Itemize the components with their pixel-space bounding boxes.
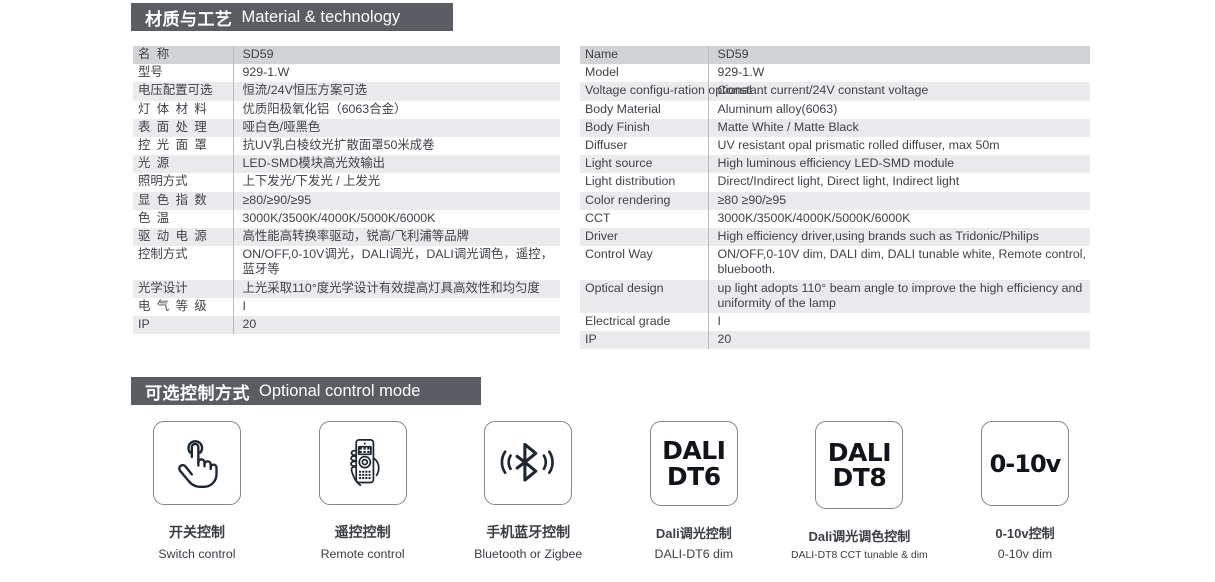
table-row: DiffuserUV resistant opal prismatic roll…	[580, 137, 1090, 155]
spec-value: up light adopts 110° beam angle to impro…	[708, 280, 1090, 313]
spec-value: 高性能高转换率驱动，锐高/飞利浦等品牌	[233, 228, 560, 246]
control-mode-label-en: Switch control	[158, 547, 235, 561]
table-row: Light distributionDirect/Indirect light,…	[580, 173, 1090, 191]
spec-value: SD59	[233, 46, 560, 64]
zero-to-ten-volt-icon[interactable]: 0-10v	[981, 421, 1069, 506]
control-mode-card[interactable]: 开关控制Switch control	[131, 421, 263, 561]
control-mode-label-en: DALI-DT8 CCT tunable & dim	[791, 550, 928, 561]
spec-key: Light distribution	[580, 173, 708, 191]
control-mode-card[interactable]: 遥控控制Remote control	[297, 421, 429, 561]
table-row: 照明方式上下发光/下发光 / 上发光	[133, 173, 560, 191]
spec-key: Color rendering	[580, 192, 708, 210]
control-mode-label-en: DALI-DT6 dim	[655, 547, 734, 561]
spec-table-chinese: 名 称SD59型号929-1.W电压配置可选恒流/24V恒压方案可选灯 体 材 …	[133, 46, 560, 334]
control-mode-label-en: Bluetooth or Zigbee	[474, 547, 582, 561]
spec-value: 抗UV乳白棱纹光扩散面罩50米成卷	[233, 137, 560, 155]
spec-key: 控制方式	[133, 246, 233, 279]
spec-key: 光学设计	[133, 280, 233, 298]
section-header-material: 材质与工艺 Material & technology	[131, 3, 453, 31]
section-header-control-en: Optional control mode	[259, 382, 420, 401]
table-row: Electrical gradeI	[580, 313, 1090, 331]
spec-key: 照明方式	[133, 173, 233, 191]
spec-key: 色 温	[133, 210, 233, 228]
dali-label-line1: DALI	[828, 440, 891, 466]
control-mode-label-cn: Dali调光控制	[656, 523, 732, 542]
section-header-control-mode: 可选控制方式 Optional control mode	[131, 377, 481, 405]
spec-key: IP	[580, 331, 708, 349]
dali-dt6-icon[interactable]: DALIDT6	[650, 421, 738, 506]
table-row: 控 光 面 罩抗UV乳白棱纹光扩散面罩50米成卷	[133, 137, 560, 155]
spec-value: I	[233, 298, 560, 316]
table-row: Light sourceHigh luminous efficiency LED…	[580, 155, 1090, 173]
table-row: 表 面 处 理哑白色/哑黑色	[133, 119, 560, 137]
spec-key: Electrical grade	[580, 313, 708, 331]
spec-value: 929-1.W	[233, 64, 560, 82]
control-mode-label-en: Remote control	[321, 547, 405, 561]
control-mode-card[interactable]: DALIDT8Dali调光调色控制DALI-DT8 CCT tunable & …	[793, 421, 925, 561]
bluetooth-icon[interactable]	[484, 421, 572, 505]
spec-value: 3000K/3500K/4000K/5000K/6000K	[233, 210, 560, 228]
table-row: 灯 体 材 料优质阳极氧化铝（6063合金）	[133, 101, 560, 119]
spec-value: 20	[708, 331, 1090, 349]
table-row: CCT3000K/3500K/4000K/5000K/6000K	[580, 210, 1090, 228]
section-header-material-cn: 材质与工艺	[145, 5, 233, 30]
table-row: 型号929-1.W	[133, 64, 560, 82]
touch-hand-icon[interactable]	[153, 421, 241, 505]
spec-key: Control Way	[580, 246, 708, 279]
spec-value: High luminous efficiency LED-SMD module	[708, 155, 1090, 173]
table-row: 光学设计上光采取110°度光学设计有效提高灯具高效性和均匀度	[133, 280, 560, 298]
spec-value: ≥80 ≥90/≥95	[708, 192, 1090, 210]
spec-table-chinese-body: 名 称SD59型号929-1.W电压配置可选恒流/24V恒压方案可选灯 体 材 …	[133, 46, 560, 334]
spec-value: 929-1.W	[708, 64, 1090, 82]
table-row: Color rendering≥80 ≥90/≥95	[580, 192, 1090, 210]
spec-value: Constant current/24V constant voltage	[708, 82, 1090, 100]
spec-key: Voltage configu-ration optional	[580, 82, 708, 100]
spec-value: SD59	[708, 46, 1090, 64]
spec-value: 上光采取110°度光学设计有效提高灯具高效性和均匀度	[233, 280, 560, 298]
spec-value: 哑白色/哑黑色	[233, 119, 560, 137]
spec-key: 光 源	[133, 155, 233, 173]
spec-value: Direct/Indirect light, Direct light, Ind…	[708, 173, 1090, 191]
voltage-label: 0-10v	[990, 450, 1061, 478]
spec-key: Model	[580, 64, 708, 82]
control-mode-label-cn: 手机蓝牙控制	[486, 522, 570, 542]
section-header-control-cn: 可选控制方式	[145, 379, 250, 404]
spec-key: 型号	[133, 64, 233, 82]
spec-value: 上下发光/下发光 / 上发光	[233, 173, 560, 191]
table-row: 显 色 指 数≥80/≥90/≥95	[133, 192, 560, 210]
spec-key: Body Material	[580, 101, 708, 119]
spec-key: 名 称	[133, 46, 233, 64]
control-mode-label-cn: Dali调光调色控制	[808, 526, 910, 545]
spec-value: 3000K/3500K/4000K/5000K/6000K	[708, 210, 1090, 228]
control-mode-label-cn: 遥控控制	[335, 522, 391, 542]
table-row: 光 源LED-SMD模块高光效输出	[133, 155, 560, 173]
control-mode-label-en: 0-10v dim	[998, 547, 1052, 561]
dali-label: DALIDT6	[662, 438, 725, 489]
spec-key: 显 色 指 数	[133, 192, 233, 210]
spec-key: 控 光 面 罩	[133, 137, 233, 155]
spec-value: LED-SMD模块高光效输出	[233, 155, 560, 173]
table-row: 电 气 等 级I	[133, 298, 560, 316]
spec-key: 灯 体 材 料	[133, 101, 233, 119]
table-row: 电压配置可选恒流/24V恒压方案可选	[133, 82, 560, 100]
spec-key: Light source	[580, 155, 708, 173]
control-mode-list: 开关控制Switch control	[131, 421, 1091, 561]
dali-dt8-icon[interactable]: DALIDT8	[815, 421, 903, 509]
table-row: 名 称SD59	[133, 46, 560, 64]
control-mode-card[interactable]: DALIDT6Dali调光控制DALI-DT6 dim	[628, 421, 760, 561]
table-row: IP20	[133, 316, 560, 334]
spec-table-english: NameSD59Model929-1.WVoltage configu-rati…	[580, 46, 1090, 349]
table-row: 色 温3000K/3500K/4000K/5000K/6000K	[133, 210, 560, 228]
spec-table-english-body: NameSD59Model929-1.WVoltage configu-rati…	[580, 46, 1090, 349]
spec-key: 驱 动 电 源	[133, 228, 233, 246]
table-row: DriverHigh efficiency driver,using brand…	[580, 228, 1090, 246]
control-mode-label-cn: 开关控制	[169, 522, 225, 542]
table-row: Voltage configu-ration optionalConstant …	[580, 82, 1090, 100]
table-row: Body FinishMatte White / Matte Black	[580, 119, 1090, 137]
spec-key: Name	[580, 46, 708, 64]
spec-value: 优质阳极氧化铝（6063合金）	[233, 101, 560, 119]
table-row: 控制方式ON/OFF,0-10V调光，DALI调光，DALI调光调色，遥控，蓝牙…	[133, 246, 560, 279]
spec-value: UV resistant opal prismatic rolled diffu…	[708, 137, 1090, 155]
dali-label-line2: DT6	[662, 464, 725, 490]
spec-value: ON/OFF,0-10V调光，DALI调光，DALI调光调色，遥控，蓝牙等	[233, 246, 560, 279]
spec-value: ≥80/≥90/≥95	[233, 192, 560, 210]
table-row: 驱 动 电 源高性能高转换率驱动，锐高/飞利浦等品牌	[133, 228, 560, 246]
table-row: Body MaterialAluminum alloy(6063)	[580, 101, 1090, 119]
spec-value: Aluminum alloy(6063)	[708, 101, 1090, 119]
table-row: Control WayON/OFF,0-10V dim, DALI dim, D…	[580, 246, 1090, 279]
spec-value: ON/OFF,0-10V dim, DALI dim, DALI tunable…	[708, 246, 1090, 279]
table-row: NameSD59	[580, 46, 1090, 64]
spec-key: 表 面 处 理	[133, 119, 233, 137]
spec-value: Matte White / Matte Black	[708, 119, 1090, 137]
dali-label-line2: DT8	[828, 465, 891, 491]
remote-control-icon[interactable]	[319, 421, 407, 505]
spec-key: Driver	[580, 228, 708, 246]
spec-key: 电压配置可选	[133, 82, 233, 100]
spec-value: 20	[233, 316, 560, 334]
control-mode-card[interactable]: 0-10v0-10v控制0-10v dim	[959, 421, 1091, 561]
table-row: IP20	[580, 331, 1090, 349]
spec-key: CCT	[580, 210, 708, 228]
dali-label-line1: DALI	[662, 438, 725, 464]
table-row: Model929-1.W	[580, 64, 1090, 82]
section-header-material-en: Material & technology	[242, 8, 401, 27]
spec-value: High efficiency driver,using brands such…	[708, 228, 1090, 246]
spec-key: Body Finish	[580, 119, 708, 137]
spec-key: 电 气 等 级	[133, 298, 233, 316]
spec-value: I	[708, 313, 1090, 331]
spec-key: IP	[133, 316, 233, 334]
spec-key: Diffuser	[580, 137, 708, 155]
dali-label: DALIDT8	[828, 440, 891, 491]
table-row: Optical designup light adopts 110° beam …	[580, 280, 1090, 313]
control-mode-label-cn: 0-10v控制	[995, 523, 1054, 542]
spec-value: 恒流/24V恒压方案可选	[233, 82, 560, 100]
spec-key: Optical design	[580, 280, 708, 313]
control-mode-card[interactable]: 手机蓝牙控制Bluetooth or Zigbee	[462, 421, 594, 561]
